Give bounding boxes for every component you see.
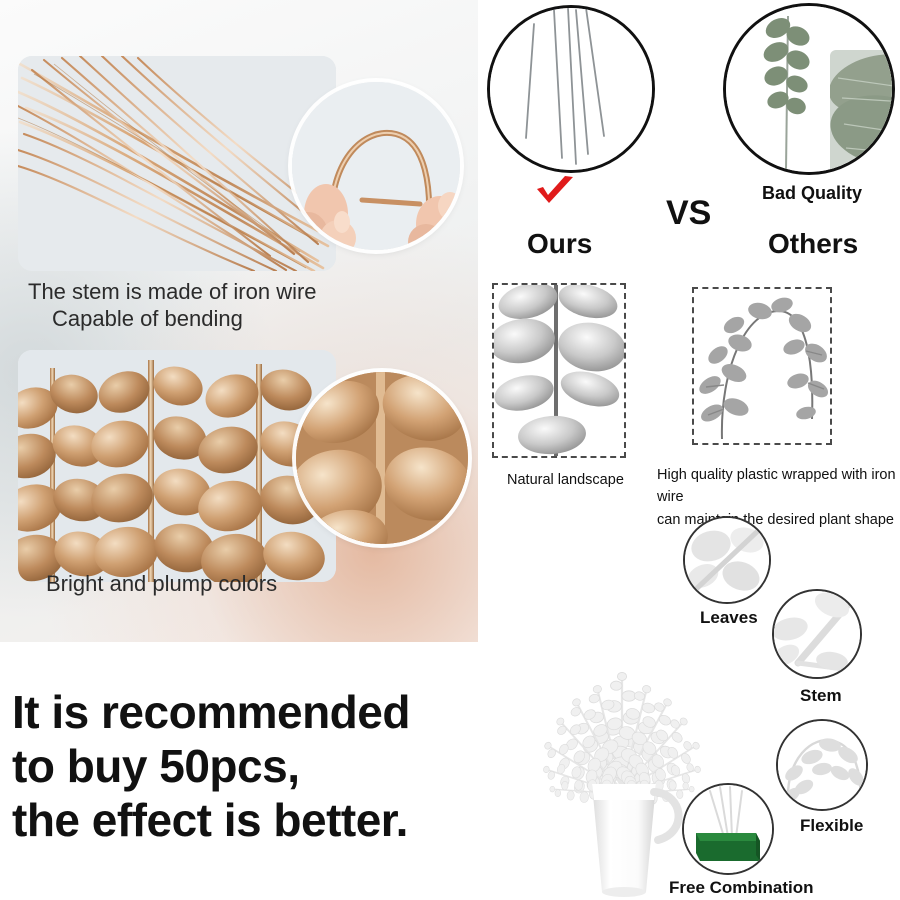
left-feature-panel: The stem is made of iron wire Capable of… xyxy=(0,0,478,642)
flexible-shape-image-box xyxy=(692,287,832,445)
leaves-label: Leaves xyxy=(700,608,758,628)
recommend-line-2: to buy 50pcs, xyxy=(12,740,512,794)
stem-iron-wire-caption: The stem is made of iron wire xyxy=(28,279,317,305)
ours-circle-image xyxy=(487,5,655,173)
flexible-branch-icon xyxy=(776,719,868,811)
green-foam-block-icon xyxy=(682,783,774,875)
others-circle-image xyxy=(723,3,895,175)
high-quality-caption-line-2: can maintain the desired plant shape xyxy=(657,509,900,531)
bright-plump-colors-caption: Bright and plump colors xyxy=(46,571,277,597)
capable-of-bending-caption: Capable of bending xyxy=(52,306,243,332)
others-label: Others xyxy=(768,228,858,260)
gold-iron-wire-stems-photo xyxy=(18,56,336,271)
bad-quality-label: Bad Quality xyxy=(762,183,862,204)
stem-closeup-icon xyxy=(772,589,862,679)
flexible-label: Flexible xyxy=(800,816,863,836)
hand-bending-wire-closeup xyxy=(292,82,460,250)
natural-landscape-image-box xyxy=(492,283,626,458)
vs-label: VS xyxy=(666,194,711,233)
natural-landscape-caption: Natural landscape xyxy=(507,472,624,488)
gold-eucalyptus-leaves-photo xyxy=(18,350,336,582)
ours-label: Ours xyxy=(527,228,592,260)
high-quality-caption: High quality plastic wrapped with iron w… xyxy=(657,464,900,531)
high-quality-caption-line-1: High quality plastic wrapped with iron w… xyxy=(657,464,900,509)
recommend-line-3: the effect is better. xyxy=(12,794,512,848)
recommendation-headline: It is recommended to buy 50pcs, the effe… xyxy=(12,686,512,847)
red-check-icon xyxy=(534,176,576,206)
leaves-closeup-icon xyxy=(683,516,771,604)
stem-label: Stem xyxy=(800,686,842,706)
recommend-line-1: It is recommended xyxy=(12,686,512,740)
infographic-root: The stem is made of iron wire Capable of… xyxy=(0,0,900,900)
gold-leaf-texture-closeup xyxy=(296,372,468,544)
free-combination-label: Free Combination xyxy=(669,878,814,898)
